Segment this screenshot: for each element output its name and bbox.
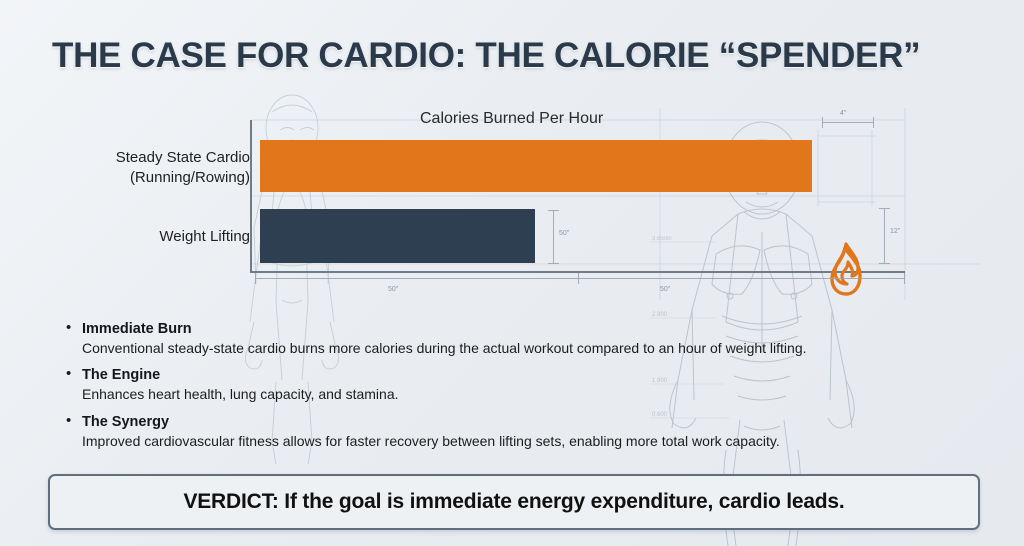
bullet-body: Improved cardiovascular fitness allows f…	[82, 432, 966, 450]
dimension-tick-mid-bottom	[548, 263, 559, 264]
flame-icon	[822, 240, 870, 298]
dimension-line-right	[884, 208, 885, 264]
svg-text:2.900: 2.900	[652, 312, 668, 318]
bar-weight-lifting	[260, 209, 535, 263]
dimension-tick-right-top	[879, 208, 890, 209]
bar-steady-state-cardio	[260, 140, 812, 192]
bar-label-steady-state-cardio: Steady State Cardio (Running/Rowing)	[10, 148, 250, 187]
bullet-body: Conventional steady-state cardio burns m…	[82, 339, 966, 357]
bullet-item-the-synergy: The Synergy Improved cardiovascular fitn…	[66, 413, 966, 450]
dimension-tick-mid-top	[548, 210, 559, 211]
dimension-tick-top-left	[822, 117, 823, 128]
dimension-tick-bottom-mid	[578, 273, 579, 284]
dimension-line-bottom	[255, 278, 905, 279]
dimension-tick-right-bottom	[879, 263, 890, 264]
dimension-label-bottom-right: 50"	[660, 286, 670, 293]
bar-label-line2: (Running/Rowing)	[10, 168, 250, 188]
bullet-item-the-engine: The Engine Enhances heart health, lung c…	[66, 366, 966, 403]
bar-label-weight-lifting: Weight Lifting	[10, 227, 250, 247]
dimension-label-top: 4"	[840, 110, 846, 117]
dimension-tick-top-right	[873, 117, 874, 128]
bullet-heading: Immediate Burn	[82, 320, 966, 338]
dimension-line-top	[822, 122, 874, 123]
bar-chart: Calories Burned Per Hour Steady State Ca…	[0, 100, 1024, 290]
dimension-label-bottom-left: 50"	[388, 286, 398, 293]
slide-root: 3.650in 2.900 1.900 0.600 THE CASE FOR C…	[0, 0, 1024, 546]
verdict-text: VERDICT: If the goal is immediate energy…	[183, 490, 844, 514]
verdict-box: VERDICT: If the goal is immediate energy…	[48, 474, 980, 530]
chart-title: Calories Burned Per Hour	[420, 110, 603, 128]
bullet-heading: The Synergy	[82, 413, 966, 431]
dimension-label-right: 12"	[890, 228, 900, 235]
chart-y-axis	[250, 120, 252, 273]
bullet-list: Immediate Burn Conventional steady-state…	[66, 320, 966, 459]
dimension-tick-bottom-left	[255, 273, 256, 284]
dimension-label-mid: 50"	[559, 230, 569, 237]
dimension-tick-bottom-right	[904, 273, 905, 284]
bullet-heading: The Engine	[82, 366, 966, 384]
bullet-item-immediate-burn: Immediate Burn Conventional steady-state…	[66, 320, 966, 357]
bullet-body: Enhances heart health, lung capacity, an…	[82, 385, 966, 403]
dimension-line-mid	[553, 210, 554, 264]
bar-label-line1: Steady State Cardio	[10, 148, 250, 168]
page-title: THE CASE FOR CARDIO: THE CALORIE “SPENDE…	[52, 36, 982, 76]
